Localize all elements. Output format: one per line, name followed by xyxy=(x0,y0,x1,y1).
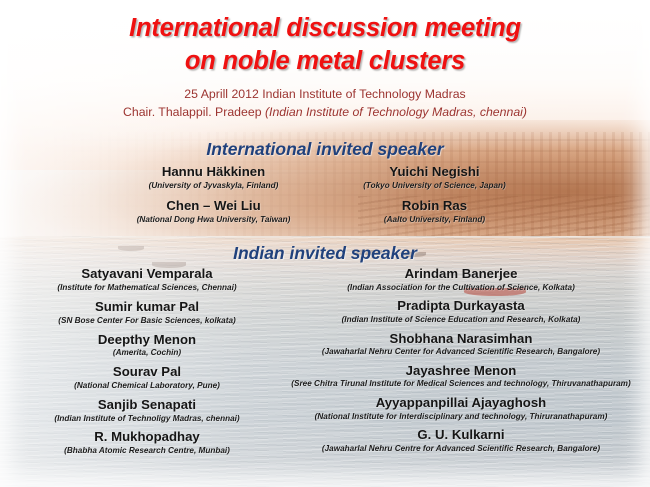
speaker-affiliation: (Indian Institute of Technoligy Madras, … xyxy=(11,414,283,424)
speaker-affiliation: (National Chemical Laboratory, Pune) xyxy=(11,381,283,391)
indian-speakers: Satyavani Vemparala (Institute for Mathe… xyxy=(0,266,650,462)
speaker-name: Satyavani Vemparala xyxy=(11,266,283,282)
speaker-affiliation: (Bhabha Atomic Research Centre, Munbai) xyxy=(11,446,283,456)
indian-column-right: Arindam Banerjee (Indian Association for… xyxy=(283,266,639,462)
speaker-name: Shobhana Narasimhan xyxy=(283,331,639,347)
speaker-entry: Pradipta Durkayasta (Indian Institute of… xyxy=(283,298,639,325)
speaker-name: Sourav Pal xyxy=(11,364,283,380)
speaker-affiliation: (National Institute for Interdisciplinar… xyxy=(283,412,639,422)
speaker-entry: Sumir kumar Pal (SN Bose Center For Basi… xyxy=(11,299,283,326)
speaker-name: Deepthy Menon xyxy=(11,332,283,348)
speaker-entry: Shobhana Narasimhan (Jawaharlal Nehru Ce… xyxy=(283,331,639,358)
speaker-entry: Deepthy Menon (Amerita, Cochin) xyxy=(11,332,283,359)
speaker-entry: Arindam Banerjee (Indian Association for… xyxy=(283,266,639,293)
speaker-name: Sumir kumar Pal xyxy=(11,299,283,315)
subtitle-chair: Chair. Thalappil. Pradeep (Indian Instit… xyxy=(0,104,650,121)
speaker-affiliation: (Indian Institute of Science Education a… xyxy=(283,315,639,325)
speaker-name: Pradipta Durkayasta xyxy=(283,298,639,314)
speaker-name: Robin Ras xyxy=(329,198,540,214)
slide-subtitle: 25 Aprill 2012 Indian Institute of Techn… xyxy=(0,86,650,121)
speaker-entry: Jayashree Menon (Sree Chitra Tirunal Ins… xyxy=(283,363,639,390)
speaker-name: Chen – Wei Liu xyxy=(110,198,317,214)
international-column-right: Yuichi Negishi (Tokyo University of Scie… xyxy=(325,164,540,232)
speaker-name: Yuichi Negishi xyxy=(329,164,540,180)
speaker-entry: Sanjib Senapati (Indian Institute of Tec… xyxy=(11,397,283,424)
speaker-entry: Chen – Wei Liu (National Dong Hwa Univer… xyxy=(110,198,317,225)
section-heading-indian: Indian invited speaker xyxy=(0,243,650,264)
slide-title-line-2: on noble metal clusters xyxy=(0,45,650,78)
slide-title-line-1: International discussion meeting xyxy=(0,12,650,45)
presentation-slide: International discussion meeting on nobl… xyxy=(0,0,650,487)
speaker-name: G. U. Kulkarni xyxy=(283,427,639,443)
subtitle-chair-affiliation: (Indian Institute of Technology Madras, … xyxy=(265,105,527,119)
speaker-affiliation: (University of Jyvaskyla, Finland) xyxy=(110,181,317,191)
slide-content: International discussion meeting on nobl… xyxy=(0,0,650,487)
speaker-name: Sanjib Senapati xyxy=(11,397,283,413)
speaker-entry: Sourav Pal (National Chemical Laboratory… xyxy=(11,364,283,391)
speaker-entry: G. U. Kulkarni (Jawaharlal Nehru Centre … xyxy=(283,427,639,454)
speaker-affiliation: (SN Bose Center For Basic Sciences, kolk… xyxy=(11,316,283,326)
slide-title: International discussion meeting on nobl… xyxy=(0,0,650,77)
subtitle-chair-name: Chair. Thalappil. Pradeep xyxy=(123,105,265,119)
international-column-left: Hannu Häkkinen (University of Jyvaskyla,… xyxy=(110,164,325,232)
speaker-entry: Ayyappanpillai Ajayaghosh (National Inst… xyxy=(283,395,639,422)
speaker-affiliation: (Institute for Mathematical Sciences, Ch… xyxy=(11,283,283,293)
speaker-name: R. Mukhopadhay xyxy=(11,429,283,445)
speaker-entry: R. Mukhopadhay (Bhabha Atomic Research C… xyxy=(11,429,283,456)
international-speakers: Hannu Häkkinen (University of Jyvaskyla,… xyxy=(0,164,650,232)
speaker-entry: Yuichi Negishi (Tokyo University of Scie… xyxy=(329,164,540,191)
speaker-affiliation: (Amerita, Cochin) xyxy=(11,348,283,358)
speaker-name: Arindam Banerjee xyxy=(283,266,639,282)
speaker-entry: Hannu Häkkinen (University of Jyvaskyla,… xyxy=(110,164,317,191)
speaker-entry: Satyavani Vemparala (Institute for Mathe… xyxy=(11,266,283,293)
speaker-affiliation: (Tokyo University of Science, Japan) xyxy=(329,181,540,191)
speaker-affiliation: (Aalto University, Finland) xyxy=(329,215,540,225)
speaker-affiliation: (Sree Chitra Tirunal Institute for Medic… xyxy=(283,379,639,389)
speaker-name: Jayashree Menon xyxy=(283,363,639,379)
indian-column-left: Satyavani Vemparala (Institute for Mathe… xyxy=(11,266,283,462)
speaker-affiliation: (National Dong Hwa University, Taiwan) xyxy=(110,215,317,225)
speaker-name: Ayyappanpillai Ajayaghosh xyxy=(283,395,639,411)
speaker-affiliation: (Jawaharlal Nehru Centre for Advanced Sc… xyxy=(283,444,639,454)
section-heading-international: International invited speaker xyxy=(0,139,650,160)
speaker-name: Hannu Häkkinen xyxy=(110,164,317,180)
speaker-affiliation: (Indian Association for the Cultivation … xyxy=(283,283,639,293)
speaker-entry: Robin Ras (Aalto University, Finland) xyxy=(329,198,540,225)
speaker-affiliation: (Jawaharlal Nehru Center for Advanced Sc… xyxy=(283,347,639,357)
subtitle-date-venue: 25 Aprill 2012 Indian Institute of Techn… xyxy=(0,86,650,103)
